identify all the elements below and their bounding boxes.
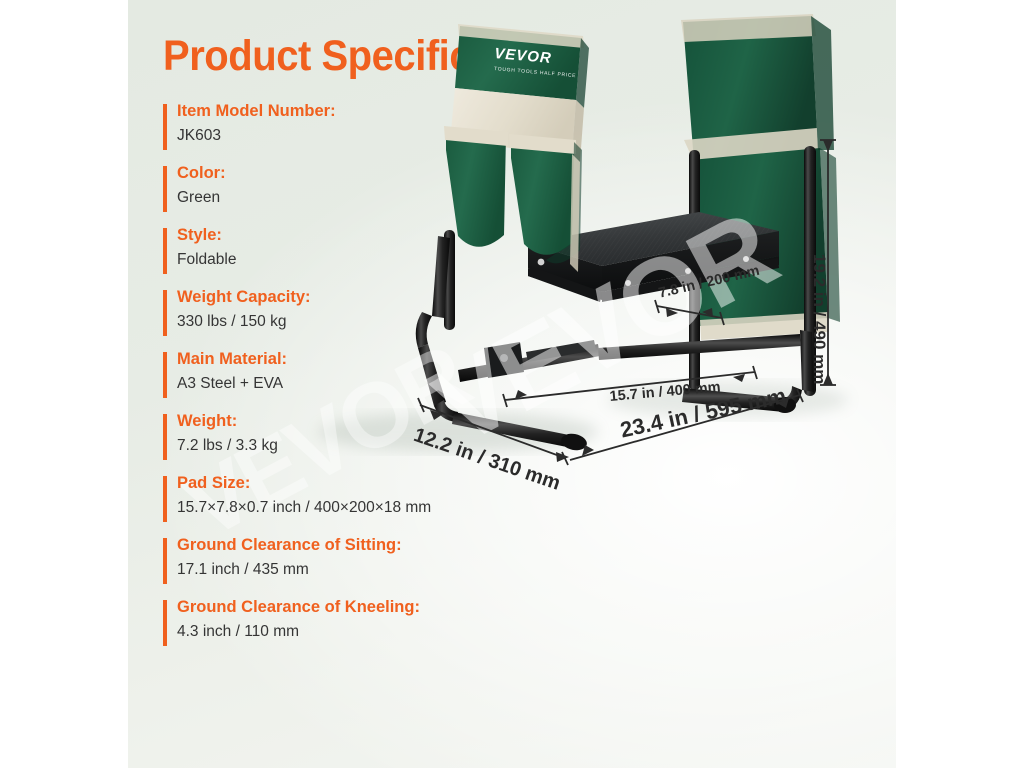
spec-accent-bar — [163, 104, 167, 150]
spec-row: Ground Clearance of Kneeling:4.3 inch / … — [163, 596, 583, 643]
spec-row: Style:Foldable — [163, 224, 583, 271]
spec-accent-bar — [163, 228, 167, 274]
spec-row: Weight:7.2 lbs / 3.3 kg — [163, 410, 583, 457]
spec-label: Weight Capacity: — [177, 286, 583, 308]
product-specification-page: Product Specification — [0, 0, 1024, 768]
specification-list: Item Model Number:JK603Color:GreenStyle:… — [163, 100, 583, 658]
spec-accent-bar — [163, 476, 167, 522]
spec-value: A3 Steel + EVA — [177, 372, 583, 395]
spec-label: Main Material: — [177, 348, 583, 370]
spec-row: Item Model Number:JK603 — [163, 100, 583, 147]
spec-label: Pad Size: — [177, 472, 583, 494]
spec-label: Weight: — [177, 410, 583, 432]
spec-value: 4.3 inch / 110 mm — [177, 620, 583, 643]
spec-value: 330 lbs / 150 kg — [177, 310, 583, 333]
spec-value: 17.1 inch / 435 mm — [177, 558, 583, 581]
spec-row: Pad Size:15.7×7.8×0.7 inch / 400×200×18 … — [163, 472, 583, 519]
spec-label: Style: — [177, 224, 583, 246]
spec-accent-bar — [163, 538, 167, 584]
spec-label: Item Model Number: — [177, 100, 583, 122]
spec-accent-bar — [163, 414, 167, 460]
spec-row: Ground Clearance of Sitting:17.1 inch / … — [163, 534, 583, 581]
spec-accent-bar — [163, 290, 167, 336]
spec-row: Weight Capacity:330 lbs / 150 kg — [163, 286, 583, 333]
dimension-overall-height: 19.2 in / 490 mm — [809, 254, 829, 384]
spec-accent-bar — [163, 352, 167, 398]
spec-label: Ground Clearance of Sitting: — [177, 534, 583, 556]
spec-label: Ground Clearance of Kneeling: — [177, 596, 583, 618]
spec-label: Color: — [177, 162, 583, 184]
spec-accent-bar — [163, 166, 167, 212]
spec-accent-bar — [163, 600, 167, 646]
spec-row: Main Material:A3 Steel + EVA — [163, 348, 583, 395]
spec-value: 15.7×7.8×0.7 inch / 400×200×18 mm — [177, 496, 583, 519]
spec-row: Color:Green — [163, 162, 583, 209]
spec-value: Green — [177, 186, 583, 209]
spec-value: JK603 — [177, 124, 583, 147]
spec-value: Foldable — [177, 248, 583, 271]
page-title: Product Specification — [163, 32, 564, 81]
spec-value: 7.2 lbs / 3.3 kg — [177, 434, 583, 457]
